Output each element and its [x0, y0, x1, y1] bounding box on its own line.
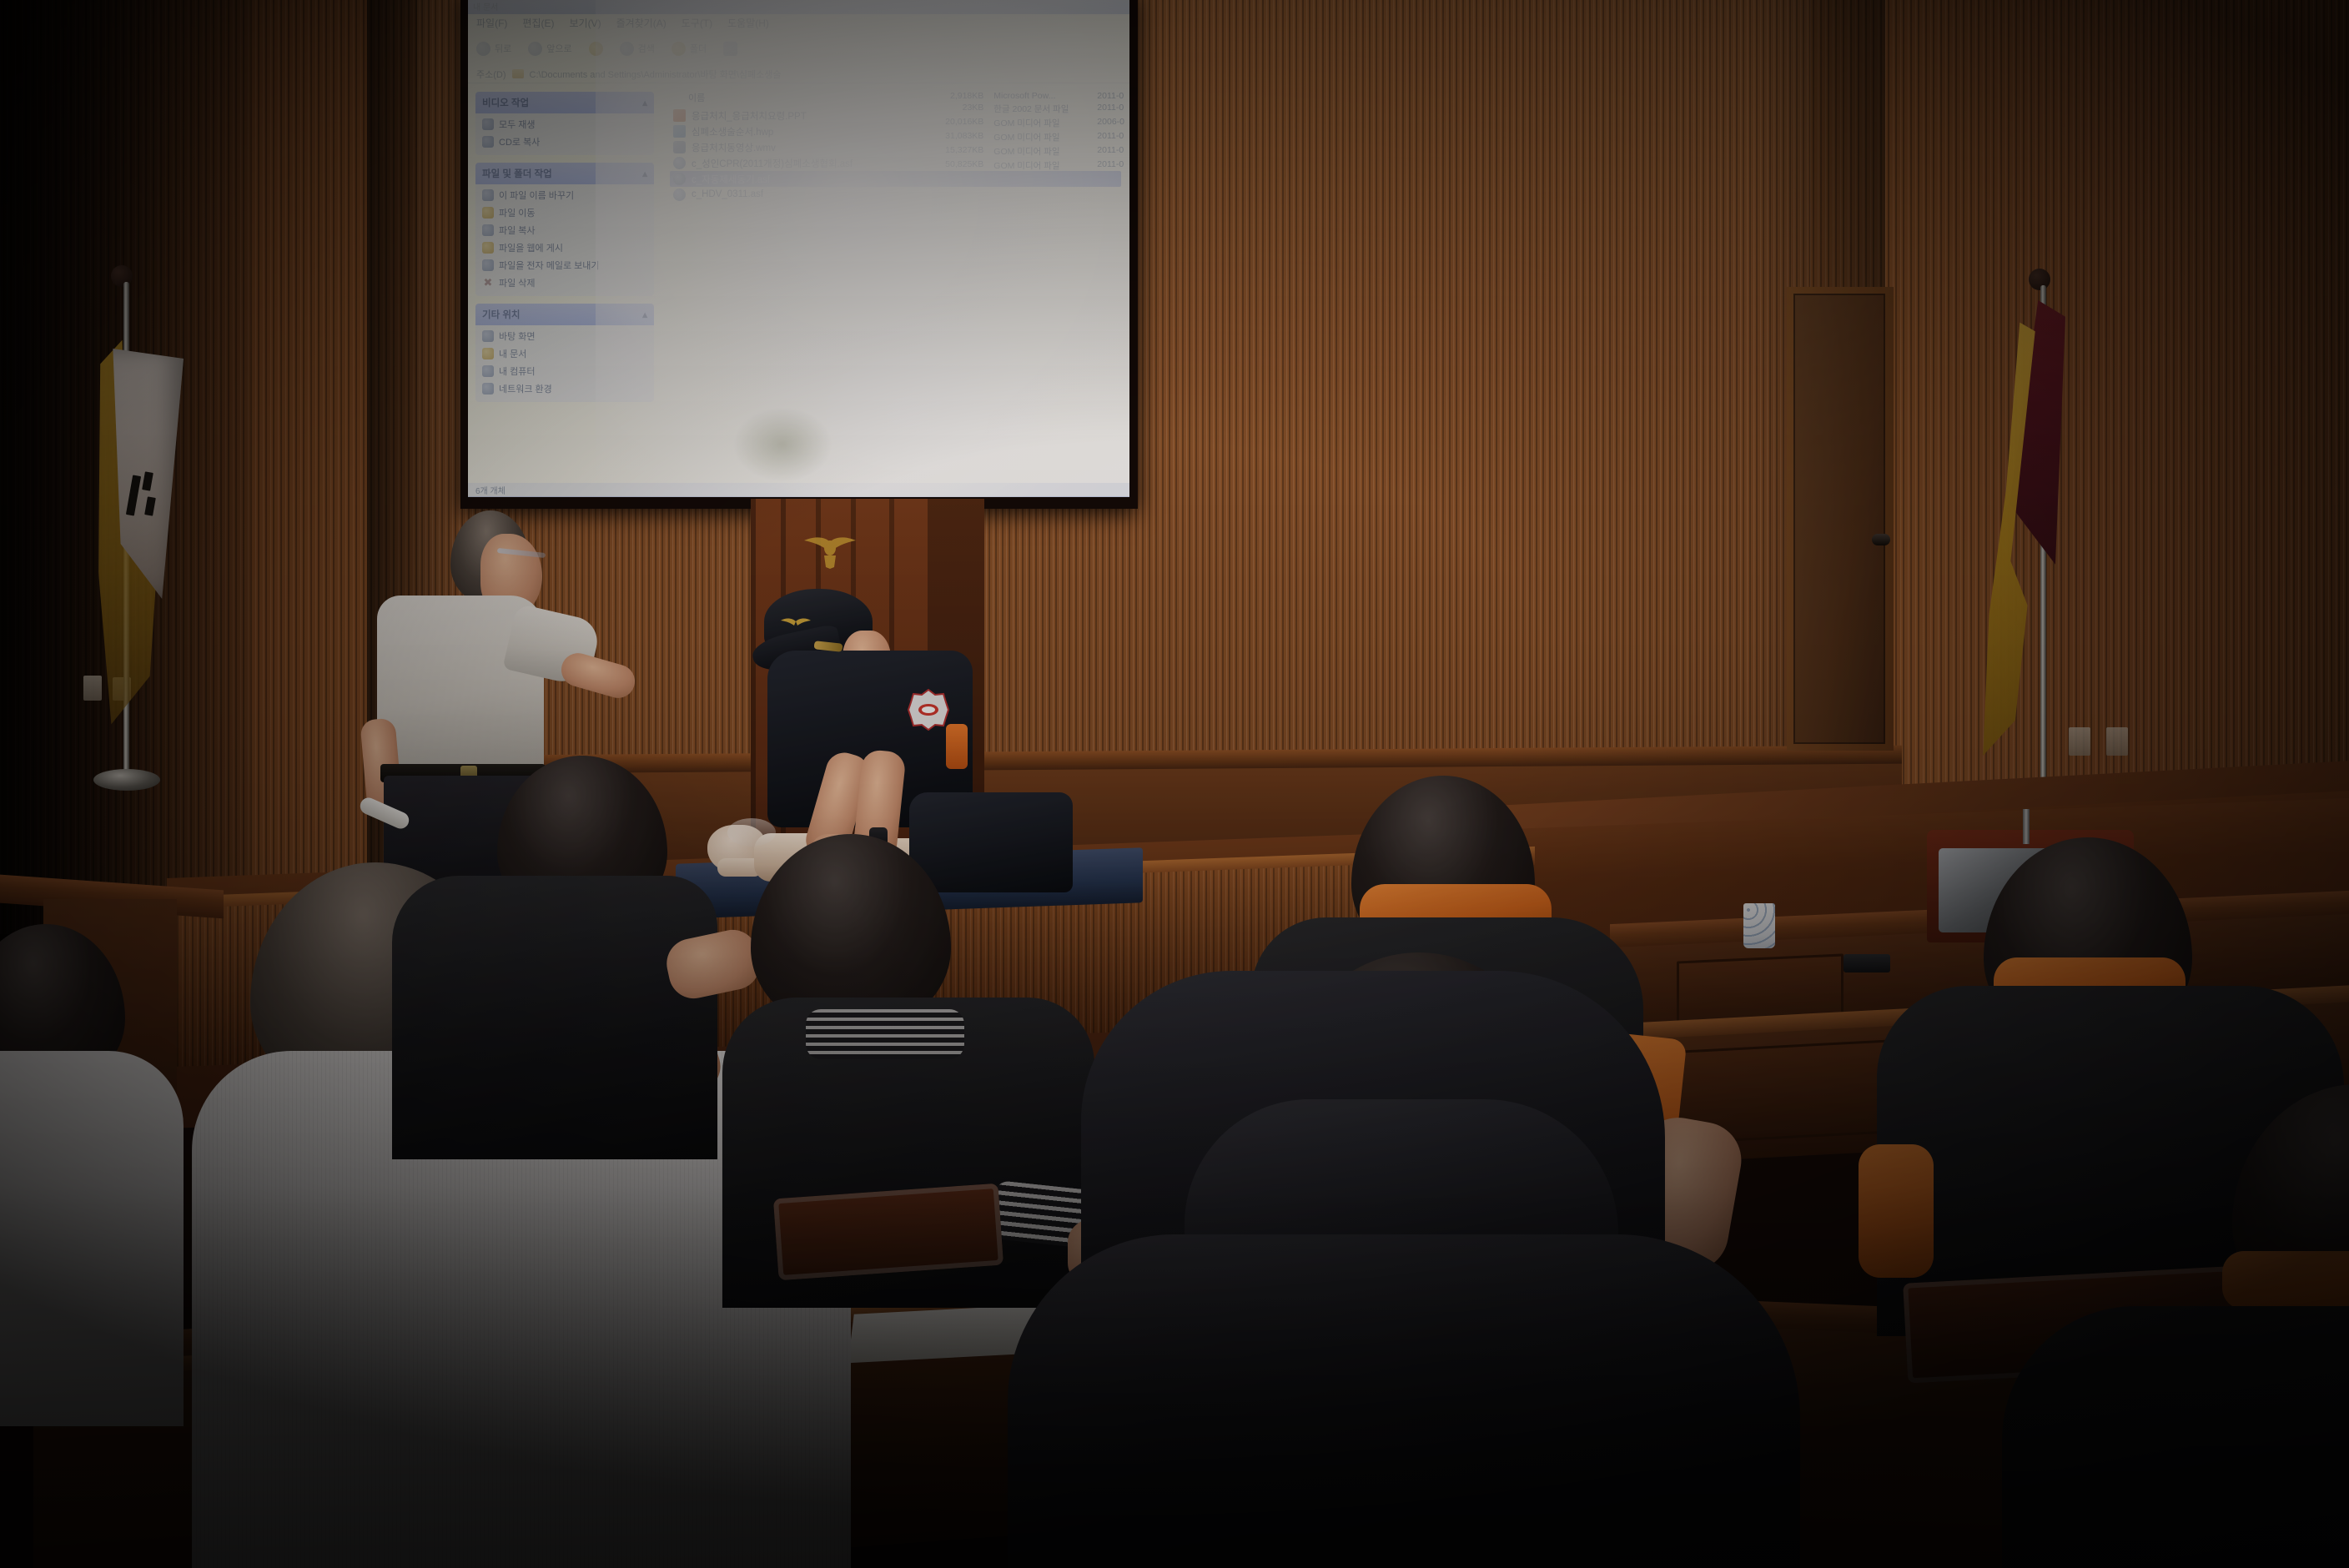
cd-copy-icon	[482, 136, 494, 148]
flag-finial	[2029, 269, 2050, 290]
task-link-label: 모두 재생	[499, 118, 536, 131]
task-panel-video-title: 비디오 작업	[482, 96, 529, 109]
start-button[interactable]: 시작	[471, 497, 503, 498]
winged-emblem-icon	[801, 534, 859, 569]
task-link-label: 파일을 웹에 게시	[499, 241, 563, 254]
remote-control[interactable]	[1843, 954, 1890, 972]
trigram-bar	[126, 475, 141, 515]
monitor-stand-pole	[2023, 809, 2030, 844]
computer-icon	[482, 365, 494, 377]
sleeve-orange-accent	[946, 724, 968, 769]
white-shirt	[0, 1051, 184, 1426]
task-link-label: 이 파일 이름 바꾸기	[499, 188, 574, 202]
shoulder-patch-icon	[908, 689, 949, 731]
network-icon	[482, 383, 494, 395]
cap-gold-emblem-icon	[781, 617, 811, 631]
collar-stripe-detail	[806, 1009, 964, 1059]
play-icon	[482, 118, 494, 130]
task-link-label: 파일 복사	[499, 224, 536, 237]
task-link-label: 바탕 화면	[499, 329, 536, 343]
folder-icon	[512, 69, 524, 78]
flag-finial	[111, 265, 133, 287]
task-panel-file-title: 파일 및 폴더 작업	[482, 167, 552, 180]
black-shirt	[392, 876, 717, 1159]
wall-outlet	[2069, 727, 2090, 756]
side-door[interactable]	[1793, 294, 1885, 744]
toolbar-back-button[interactable]: 뒤로	[476, 42, 511, 56]
task-link-label: 파일 이동	[499, 206, 536, 219]
toolbar-forward-label: 앞으로	[546, 42, 571, 55]
task-link-label: CD로 복사	[499, 135, 540, 148]
projection-surface: 내 문서 파일(F) 편집(E) 보기(V) 즐겨찾기(A) 도구(T) 도움말…	[468, 0, 1129, 497]
toolbar-back-label: 뒤로	[495, 42, 511, 55]
cup-pattern	[1743, 903, 1775, 948]
task-link-label: 파일 삭제	[499, 276, 536, 289]
rename-icon	[482, 189, 494, 201]
menu-file[interactable]: 파일(F)	[476, 16, 507, 30]
desktop-icon	[482, 330, 494, 342]
trigram-bar	[144, 496, 156, 515]
copy-icon	[482, 224, 494, 236]
lecture-hall-photo: 내 문서 파일(F) 편집(E) 보기(V) 즐겨찾기(A) 도구(T) 도움말…	[0, 0, 2349, 1568]
manikin-face-shield	[727, 818, 776, 847]
trigram-bar	[142, 471, 153, 490]
task-panel-other-title: 기타 위치	[482, 308, 521, 321]
toolbar-forward-button[interactable]: 앞으로	[528, 42, 571, 56]
task-link-label: 파일을 전자 메일로 보내기	[499, 259, 600, 272]
orange-collar	[2222, 1251, 2349, 1309]
task-link-label: 내 컴퓨터	[499, 364, 536, 378]
move-icon	[482, 207, 494, 219]
task-link-label: 내 문서	[499, 347, 526, 360]
task-link-label: 네트워크 환경	[499, 382, 552, 395]
demonstrator-trousers	[909, 792, 1073, 892]
orange-sleeve	[1859, 1144, 1934, 1278]
hoodie-shoulders	[1008, 1234, 1800, 1568]
projection-screen: 내 문서 파일(F) 편집(E) 보기(V) 즐겨찾기(A) 도구(T) 도움말…	[460, 0, 1138, 509]
forward-arrow-icon	[528, 42, 542, 56]
black-orange-polo	[2002, 1306, 2349, 1568]
menu-edit[interactable]: 편집(E)	[522, 16, 554, 30]
status-text: 6개 개체	[475, 484, 506, 496]
documents-icon	[482, 348, 494, 359]
delete-icon: ✖	[482, 277, 494, 289]
wall-outlet	[2106, 727, 2128, 756]
paper-cup[interactable]	[1743, 903, 1775, 948]
flag-stand-base	[93, 769, 160, 791]
web-publish-icon	[482, 242, 494, 254]
chair-backrest[interactable]	[773, 1184, 1003, 1281]
back-arrow-icon	[476, 42, 490, 56]
address-label: 주소(D)	[476, 68, 506, 81]
head-shadow-on-screen	[732, 407, 832, 482]
wall-outlet	[83, 676, 102, 701]
explorer-title: 내 문서	[473, 0, 498, 13]
email-icon	[482, 259, 494, 271]
door-handle-icon[interactable]	[1872, 534, 1890, 545]
